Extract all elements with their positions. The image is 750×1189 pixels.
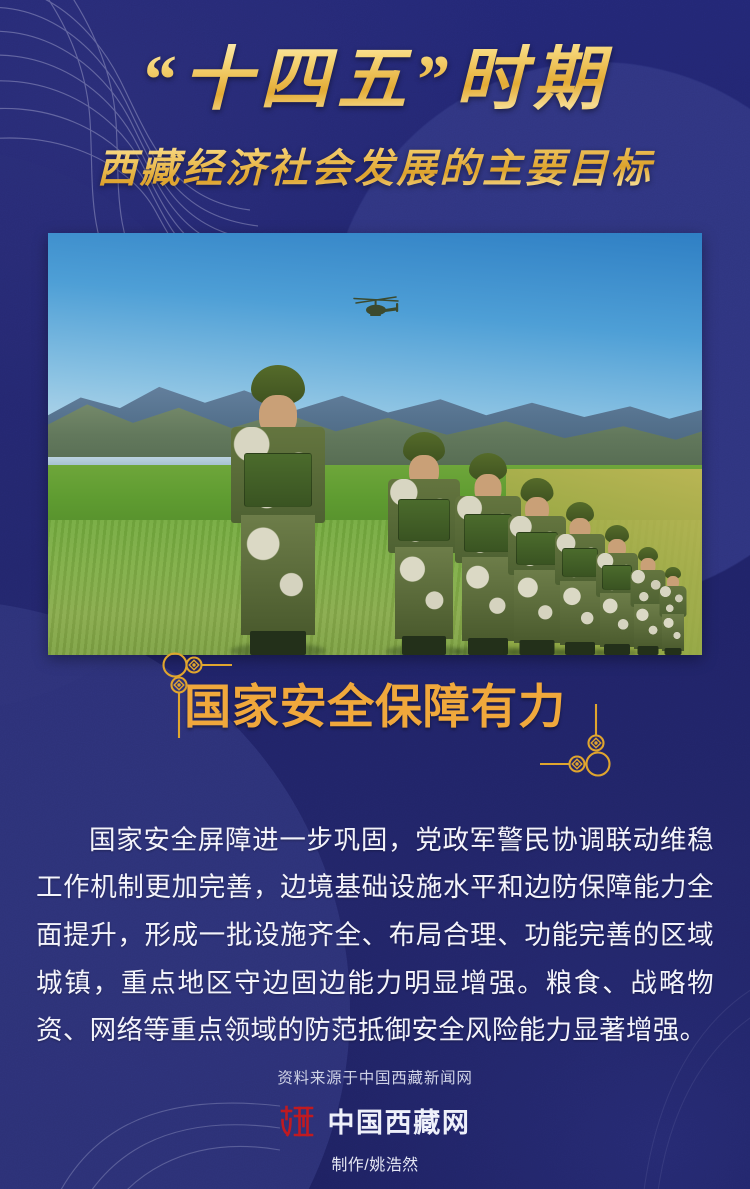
section-heading: 国家安全保障有力: [0, 668, 750, 737]
helicopter-icon: [349, 292, 405, 322]
source-attribution: 资料来源于中国西藏新闻网: [0, 1066, 750, 1088]
poster-title-subtitle: 西藏经济社会发展的主要目标: [0, 136, 750, 194]
poster-root: “十四五”时期 西藏经济社会发展的主要目标: [0, 0, 750, 1189]
body-paragraph: 国家安全屏障进一步巩固，党政军警民协调联动维稳工作机制更加完善，边境基础设施水平…: [36, 817, 714, 1055]
corner-ornament-icon: [540, 702, 622, 780]
poster-title-main: “十四五”时期: [0, 44, 750, 118]
china-tibet-net-seal-icon: [279, 1104, 315, 1138]
brand-block: 中国西藏网: [0, 1101, 750, 1140]
hero-photo: [48, 233, 702, 655]
brand-name: 中国西藏网: [327, 1101, 470, 1140]
footer: 资料来源于中国西藏新闻网 中国西藏网 制作/姚浩然: [0, 1066, 750, 1175]
poster-title-block: “十四五”时期 西藏经济社会发展的主要目标: [0, 44, 750, 194]
photo-soldier: [218, 355, 338, 655]
producer-credit: 制作/姚浩然: [0, 1151, 750, 1175]
photo-soldier: [656, 563, 690, 655]
